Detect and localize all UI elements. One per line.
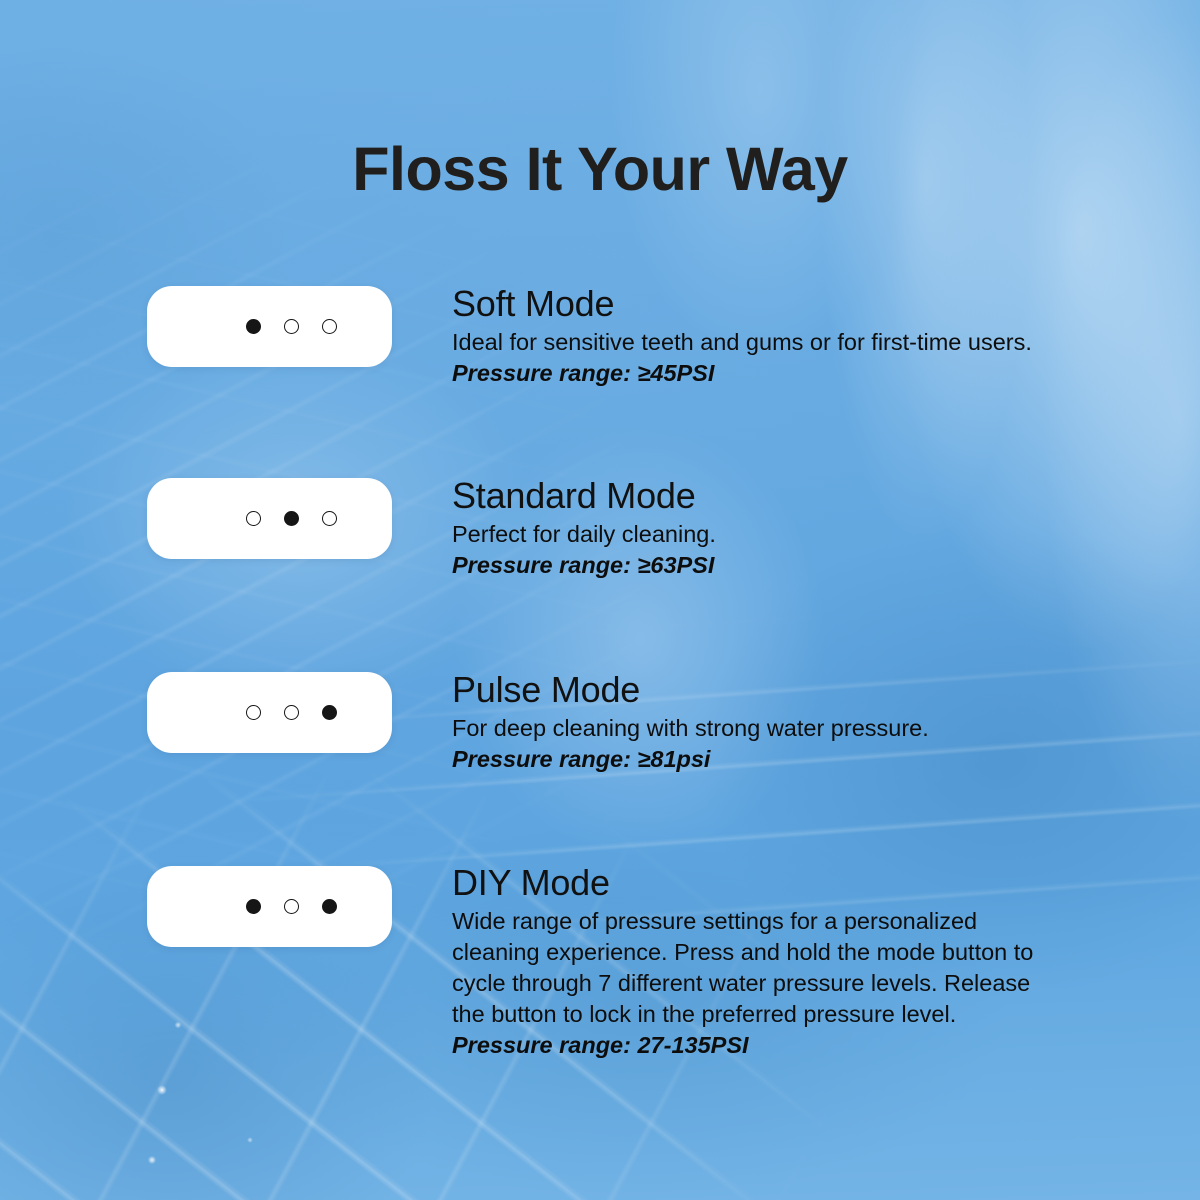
page-title: Floss It Your Way xyxy=(0,139,1200,200)
mode-heading-diy: DIY Mode xyxy=(452,864,1062,902)
indicator-dot-2-filled xyxy=(284,511,299,526)
mode-heading-standard: Standard Mode xyxy=(452,477,1062,515)
mode-desc-soft: Ideal for sensitive teeth and gums or fo… xyxy=(452,327,1062,358)
dot-group-pulse xyxy=(246,705,337,720)
indicator-dot-2-hollow xyxy=(284,899,299,914)
mode-desc-diy: Wide range of pressure settings for a pe… xyxy=(452,906,1062,1030)
indicator-dot-3-hollow xyxy=(322,511,337,526)
mode-pressure-pulse: Pressure range: ≥81psi xyxy=(452,744,1062,775)
poster-content: Floss It Your Way Soft Mode Ideal for se… xyxy=(0,0,1200,1200)
mode-indicator-diy[interactable] xyxy=(147,866,392,947)
dot-group-diy xyxy=(246,899,337,914)
mode-pressure-diy: Pressure range: 27-135PSI xyxy=(452,1030,1062,1061)
indicator-dot-1-hollow xyxy=(246,705,261,720)
indicator-dot-3-hollow xyxy=(322,319,337,334)
mode-indicator-standard[interactable] xyxy=(147,478,392,559)
indicator-dot-3-filled xyxy=(322,899,337,914)
mode-pressure-soft: Pressure range: ≥45PSI xyxy=(452,358,1062,389)
dot-group-soft xyxy=(246,319,337,334)
mode-indicator-pulse[interactable] xyxy=(147,672,392,753)
poster-root: Floss It Your Way Soft Mode Ideal for se… xyxy=(0,0,1200,1200)
mode-desc-standard: Perfect for daily cleaning. xyxy=(452,519,1062,550)
indicator-dot-2-hollow xyxy=(284,319,299,334)
mode-pressure-standard: Pressure range: ≥63PSI xyxy=(452,550,1062,581)
mode-heading-pulse: Pulse Mode xyxy=(452,671,1062,709)
mode-desc-pulse: For deep cleaning with strong water pres… xyxy=(452,713,1062,744)
indicator-dot-3-filled xyxy=(322,705,337,720)
mode-heading-soft: Soft Mode xyxy=(452,285,1062,323)
mode-indicator-soft[interactable] xyxy=(147,286,392,367)
indicator-dot-2-hollow xyxy=(284,705,299,720)
mode-text-standard: Standard Mode Perfect for daily cleaning… xyxy=(452,477,1062,581)
mode-text-pulse: Pulse Mode For deep cleaning with strong… xyxy=(452,671,1062,775)
indicator-dot-1-filled xyxy=(246,899,261,914)
mode-text-soft: Soft Mode Ideal for sensitive teeth and … xyxy=(452,285,1062,389)
indicator-dot-1-filled xyxy=(246,319,261,334)
mode-text-diy: DIY Mode Wide range of pressure settings… xyxy=(452,864,1062,1061)
dot-group-standard xyxy=(246,511,337,526)
indicator-dot-1-hollow xyxy=(246,511,261,526)
